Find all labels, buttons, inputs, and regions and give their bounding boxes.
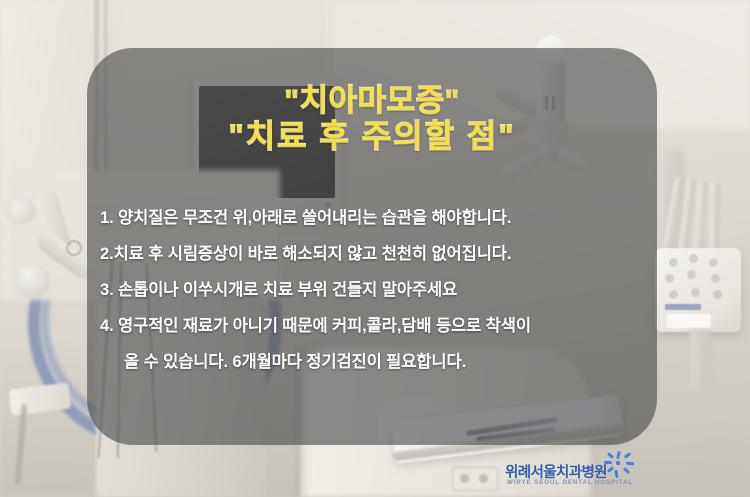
hospital-logo: 위례서울치과병원 WIRYE SEOUL DENTAL HOSPITAL	[505, 455, 645, 495]
hospital-name-latin: WIRYE SEOUL DENTAL HOSPITAL	[507, 479, 633, 486]
instruction-item-4: 4. 영구적인 재료가 아니기 때문에 커피,콜라,담배 등으로 착색이	[100, 308, 660, 344]
starburst-icon	[604, 451, 634, 479]
dental-control-panel	[655, 248, 741, 332]
instruction-list: 1. 양치질은 무조건 위,아래로 쓸어내리는 습관을 해야합니다. 2.치료 …	[100, 200, 660, 380]
chair-adjust-knob	[16, 264, 50, 298]
poster-image: "치아마모증" "치료 후 주의할 점" 1. 양치질은 무조건 위,아래로 쓸…	[0, 0, 750, 497]
title-line-2: "치료 후 주의할 점"	[87, 119, 657, 155]
instruction-item-2: 2.치료 후 시림증상이 바로 해소되지 않고 천천히 없어집니다.	[100, 236, 660, 272]
instruction-item-3: 3. 손톱이나 이쑤시개로 치료 부위 건들지 말아주세요	[100, 272, 660, 308]
wall-outlet	[452, 467, 498, 491]
instrument-hose	[709, 182, 719, 258]
chair-bracket-cap	[4, 198, 36, 224]
poster-title: "치아마모증" "치료 후 주의할 점"	[87, 84, 657, 155]
instruction-item-4-continued: 올 수 있습니다. 6개월마다 정기검진이 필요합니다.	[100, 344, 660, 380]
control-panel-stem	[690, 330, 710, 390]
instruction-item-1: 1. 양치질은 무조건 위,아래로 쓸어내리는 습관을 해야합니다.	[100, 200, 660, 236]
title-line-1: "치아마모증"	[87, 84, 657, 119]
chair-bracket-pin	[66, 240, 82, 256]
